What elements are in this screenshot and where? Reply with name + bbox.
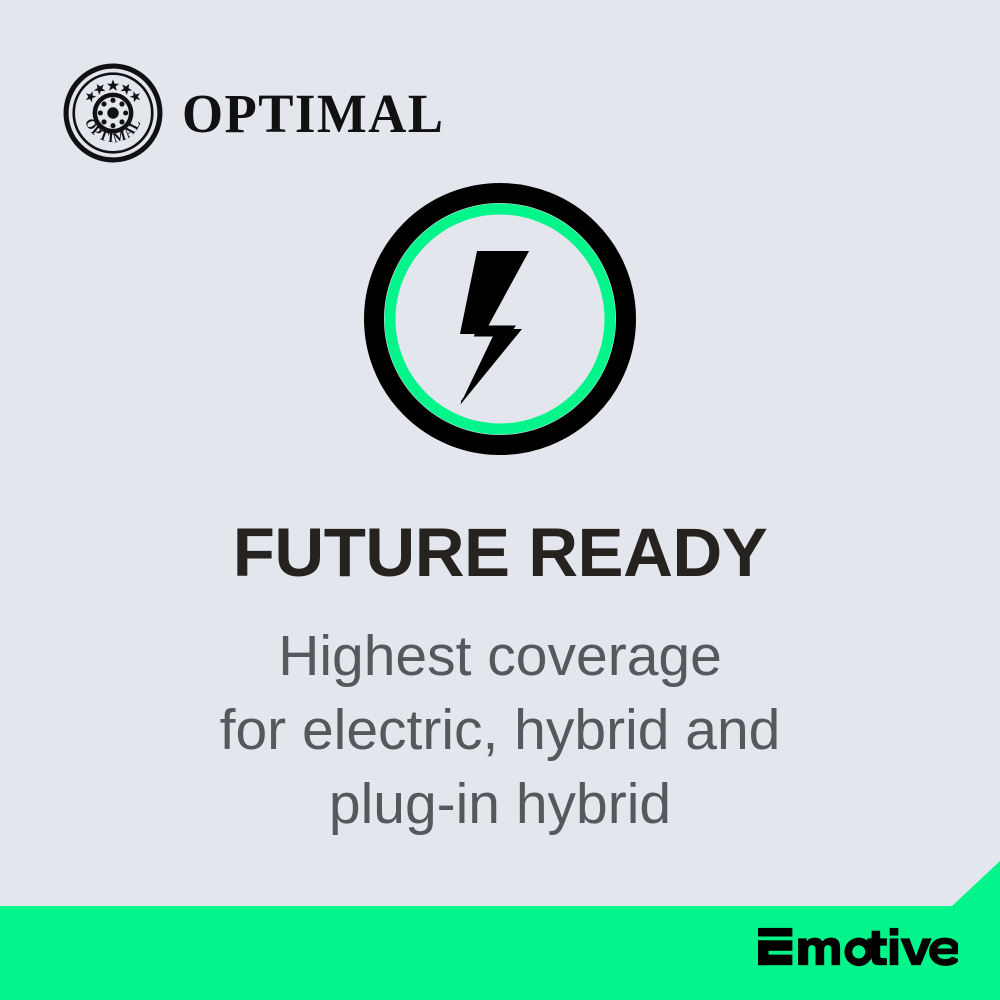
page-title: FUTURE READY — [0, 514, 1000, 591]
emotive-wordmark-logo — [758, 926, 958, 968]
subhead-line-3: plug-in hybrid — [0, 767, 1000, 841]
lightning-bolt-in-circle-icon — [364, 183, 636, 455]
optimal-seal-icon: OPTIMAL — [62, 62, 164, 164]
brand-wordmark: OPTIMAL — [182, 86, 444, 141]
subhead-line-2: for electric, hybrid and — [0, 693, 1000, 767]
hero-icon-container — [0, 183, 1000, 455]
copy-block: FUTURE READY Highest coverage for electr… — [0, 514, 1000, 842]
subhead-line-1: Highest coverage — [0, 619, 1000, 693]
brand-lockup: OPTIMAL OPTIMAL — [62, 62, 455, 164]
subhead: Highest coverage for electric, hybrid an… — [0, 619, 1000, 841]
